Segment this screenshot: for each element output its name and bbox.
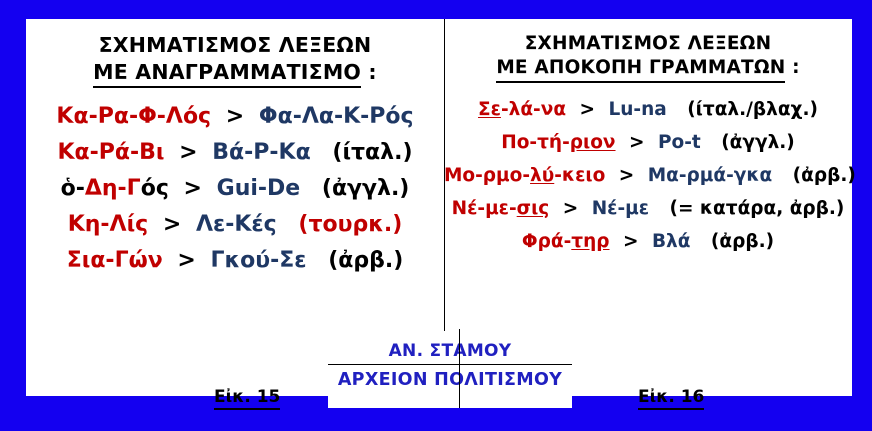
row-note: (ἀγγλ.) [721, 132, 795, 153]
right-title-line1: ΣΧΗΜΑΤΙΣΜΟΣ ΛΕΞΕΩΝ [444, 32, 852, 56]
table-row: Σια-Γών > Γκού-Σε (ἀρβ.) [26, 242, 444, 278]
row-arrow: > [177, 248, 195, 273]
row-note: (ίταλ./βλαχ.) [687, 99, 818, 120]
row-note: (ἀρβ.) [711, 231, 774, 252]
row-source: Πο-τή-ριον [501, 132, 615, 153]
row-result: Λε-Κές [196, 212, 277, 237]
row-result: Po-t [658, 132, 701, 153]
row-note: (τουρκ.) [298, 212, 402, 237]
row-arrow: > [619, 165, 635, 186]
table-row: Φρά-τηρ > Βλά (ἀρβ.) [444, 225, 852, 258]
row-source: Σε-λά-να [478, 99, 566, 120]
row-result: Φα-Λα-Κ-Ρός [259, 104, 414, 129]
row-note: (ίταλ.) [332, 140, 412, 165]
table-row: Νέ-με-σις > Νέ-με (= κατάρα, ἀρβ.) [444, 192, 852, 225]
row-source: Κη-Λίς [68, 212, 148, 237]
row-result: Βά-Ρ-Κα [212, 140, 310, 165]
row-source: ὁ-Δη-Γός [61, 176, 169, 201]
row-arrow: > [629, 132, 645, 153]
row-source: Σια-Γών [67, 248, 163, 273]
row-arrow: > [580, 99, 596, 120]
left-title-line2: ΜΕ ΑΝΑΓΡΑΜΜΑΤΙΣΜΟ [93, 59, 361, 89]
table-row: Πο-τή-ριον > Po-t (ἀγγλ.) [444, 126, 852, 159]
row-source: Φρά-τηρ [522, 231, 610, 252]
table-row: ὁ-Δη-Γός > Gui-De (ἀγγλ.) [26, 170, 444, 206]
table-row: Σε-λά-να > Lu-na (ίταλ./βλαχ.) [444, 93, 852, 126]
row-note: (ἀρβ.) [328, 248, 403, 273]
left-rows: Κα-Ρα-Φ-Λός > Φα-Λα-Κ-Ρός Κα-Ρά-Βι > Βά-… [26, 98, 444, 278]
row-result: Γκού-Σε [210, 248, 306, 273]
footer-author: ΑΝ. ΣΤΑΜΟΥ [328, 335, 572, 364]
row-arrow: > [563, 198, 579, 219]
row-note: (= κατάρα, ἀρβ.) [670, 198, 845, 219]
row-result: Gui-De [217, 176, 301, 201]
left-title-colon: : [361, 60, 377, 84]
table-row: Κη-Λίς > Λε-Κές (τουρκ.) [26, 206, 444, 242]
left-title-line1: ΣΧΗΜΑΤΙΣΜΟΣ ΛΕΞΕΩΝ [26, 32, 444, 59]
row-arrow: > [184, 176, 202, 201]
row-note: (ἀγγλ.) [322, 176, 409, 201]
footer-tick-mark [459, 329, 460, 408]
figure-caption-right: Εἰκ. 16 [638, 387, 704, 407]
row-result: Lu-na [608, 99, 666, 120]
right-title-line2: ΜΕ ΑΠΟΚΟΠΗ ΓΡΑΜΜΑΤΩΝ [496, 56, 785, 83]
table-row: Μο-ρμο-λύ-κειο > Μα-ρμά-γκα (ἀρβ.) [444, 159, 852, 192]
row-arrow: > [623, 231, 639, 252]
footer-site: ΑΡΧΕΙΟΝ ΠΟΛΙΤΙΣΜΟΥ [328, 365, 572, 390]
row-arrow: > [226, 104, 244, 129]
row-source: Κα-Ρα-Φ-Λός [56, 104, 211, 129]
row-source: Μο-ρμο-λύ-κειο [444, 165, 605, 186]
table-row: Κα-Ρά-Βι > Βά-Ρ-Κα (ίταλ.) [26, 134, 444, 170]
row-result: Νέ-με [592, 198, 649, 219]
right-title-colon: : [785, 57, 799, 78]
right-panel-title: ΣΧΗΜΑΤΙΣΜΟΣ ΛΕΞΕΩΝ ΜΕ ΑΠΟΚΟΠΗ ΓΡΑΜΜΑΤΩΝ … [444, 32, 852, 83]
right-rows: Σε-λά-να > Lu-na (ίταλ./βλαχ.) Πο-τή-ριο… [444, 93, 852, 258]
footer-credit: ΑΝ. ΣΤΑΜΟΥ ΑΡΧΕΙΟΝ ΠΟΛΙΤΙΣΜΟΥ [328, 335, 572, 408]
row-result: Μα-ρμά-γκα [648, 165, 773, 186]
row-arrow: > [163, 212, 181, 237]
row-result: Βλά [652, 231, 691, 252]
figure-caption-left: Εἰκ. 15 [214, 387, 280, 407]
row-source: Κα-Ρά-Βι [57, 140, 164, 165]
row-source: Νέ-με-σις [452, 198, 550, 219]
left-panel-title: ΣΧΗΜΑΤΙΣΜΟΣ ΛΕΞΕΩΝ ΜΕ ΑΝΑΓΡΑΜΜΑΤΙΣΜΟ : [26, 32, 444, 88]
panel-divider [444, 19, 445, 331]
row-note: (ἀρβ.) [793, 165, 856, 186]
row-arrow: > [179, 140, 197, 165]
table-row: Κα-Ρα-Φ-Λός > Φα-Λα-Κ-Ρός [26, 98, 444, 134]
